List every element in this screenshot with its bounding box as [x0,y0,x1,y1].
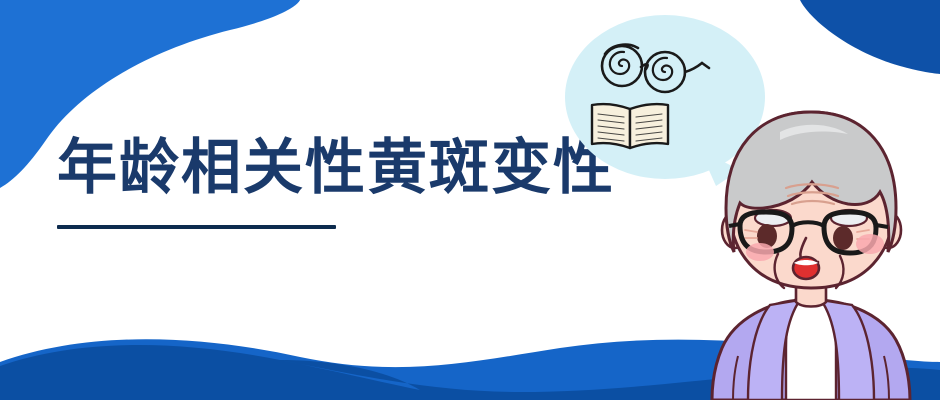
speech-bubble-body [565,15,765,179]
eye-right [833,226,853,250]
cheek-left [746,243,774,261]
cheek-right [856,234,884,254]
illustration-layer [0,0,940,400]
open-book-icon [592,104,668,148]
elderly-person-illustration [712,112,910,400]
banner-container: 年龄相关性黄斑变性 [0,0,940,400]
